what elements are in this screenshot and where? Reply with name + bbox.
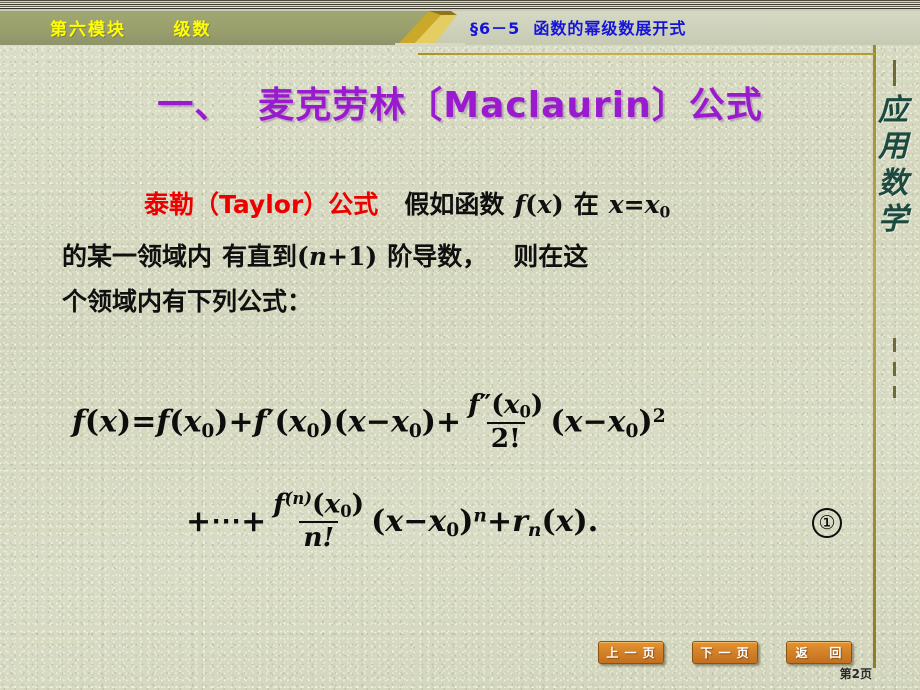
- page-title: 一、 麦克劳林〔Maclaurin〕公式: [0, 76, 920, 128]
- calligraphy-char-3: 数: [878, 168, 908, 200]
- f2-fraction: f(n)(x0)n!: [269, 490, 368, 552]
- body-text-block: 泰勒（Taylor）公式假如函数f(x)在x=x0 的某一领域内有直到(n+1)…: [62, 182, 862, 324]
- line2-math-plus: +: [327, 242, 348, 271]
- f2-frac-x0-sub: 0: [340, 502, 351, 521]
- f1-t2-fx0-sub: 0: [409, 421, 422, 442]
- f1-plus-1: +: [229, 405, 254, 440]
- f2-t-x: x: [385, 504, 403, 539]
- f1-frac-f: f: [468, 389, 479, 420]
- f1-t2-x0-sub: 0: [307, 421, 320, 442]
- f2-remainder-x: x: [556, 504, 574, 539]
- vertical-dash-bottom: [893, 338, 896, 398]
- f2-period: .: [588, 504, 598, 539]
- f2-frac-order: (n): [285, 489, 312, 508]
- prev-page-button[interactable]: 上 一 页: [598, 641, 664, 664]
- navigation-bar: 上 一 页 下 一 页 返 回: [598, 641, 852, 664]
- equation-number: ①: [812, 508, 842, 538]
- f1-plus-2: +: [436, 405, 461, 440]
- f2-plus-after: +: [241, 504, 266, 539]
- f2-ellipsis: ⋯: [211, 504, 241, 539]
- f1-t3-power: 2: [653, 406, 666, 427]
- f1-frac-primes: ″: [479, 389, 491, 420]
- slide-canvas: 第六模块 级数 §6－5 函数的幂级数展开式 应 用 数 学 一、 麦克劳林〔M…: [0, 0, 920, 690]
- line1-math-x2: x: [609, 190, 624, 219]
- f2-frac-f: f: [273, 489, 284, 520]
- header-gold-rule: [418, 53, 875, 55]
- line2-math-n: n: [309, 242, 327, 271]
- return-button[interactable]: 返 回: [786, 641, 852, 664]
- line1-text-a: 假如函数: [404, 190, 504, 219]
- line2-text-b: 有直到: [222, 242, 297, 271]
- section-title: §6－5 函数的幂级数展开式: [470, 15, 686, 39]
- f2-plus-r: +: [487, 504, 512, 539]
- f2-t-x0-sub: 0: [446, 520, 459, 541]
- f1-t2-fx: x: [348, 405, 366, 440]
- page-indicator: 第2页: [840, 665, 872, 682]
- f2-frac-x0: x: [325, 489, 341, 520]
- line2-text-c: 阶导数，: [387, 242, 487, 271]
- f1-lhs-f: f: [72, 405, 85, 440]
- header-section-band: §6－5 函数的幂级数展开式: [430, 9, 920, 45]
- f1-lhs-x: x: [99, 405, 117, 440]
- f2-t-x0: x: [428, 504, 446, 539]
- line1-math-x0-sub: 0: [659, 202, 670, 221]
- line2-text-d: 则在这: [513, 242, 588, 271]
- line1-math-f: f: [514, 190, 525, 219]
- line1-paren-close: ): [552, 190, 564, 219]
- f1-frac-x0: x: [504, 389, 520, 420]
- paragraph-line-3: 个领域内有下列公式：: [62, 279, 862, 324]
- f1-t3-x0: x: [608, 405, 626, 440]
- taylor-formula-heading: 泰勒（Taylor）公式: [144, 190, 378, 219]
- taylor-formula-line-2: +⋯+f(n)(x0)n!(x−x0)n+rn(x).: [186, 492, 598, 554]
- paragraph-line-2: 的某一领域内有直到(n+1)阶导数，则在这: [62, 234, 862, 279]
- next-page-button[interactable]: 下 一 页: [692, 641, 758, 664]
- f1-t2-minus: −: [366, 405, 391, 440]
- header-module-band: 第六模块 级数: [0, 9, 430, 45]
- f2-t-minus: −: [403, 504, 428, 539]
- paragraph-line-1: 泰勒（Taylor）公式假如函数f(x)在x=x0: [144, 182, 862, 234]
- f1-t2-fx0: x: [391, 405, 409, 440]
- top-stripe-decoration: [0, 0, 920, 11]
- line1-text-b: 在: [574, 190, 599, 219]
- line2-math-one: 1: [348, 242, 365, 271]
- line1-paren-open: (: [525, 190, 537, 219]
- line1-math-eq: =: [624, 190, 645, 219]
- line2-text-a: 的某一领域内: [62, 242, 212, 271]
- slide-header: 第六模块 级数 §6－5 函数的幂级数展开式: [0, 9, 920, 45]
- f1-frac-numerator: f″(x0): [464, 391, 547, 422]
- line1-math-x: x: [537, 190, 552, 219]
- line2-paren-close: ): [365, 242, 377, 271]
- f1-t3-minus: −: [583, 405, 608, 440]
- taylor-formula-line-1: f(x)=f(x0)+f′(x0)(x−x0)+f″(x0)2!(x−x0)2: [72, 393, 666, 454]
- f1-t1-x0-sub: 0: [201, 421, 214, 442]
- f1-t1-x0: x: [183, 405, 201, 440]
- f2-frac-numerator: f(n)(x0): [269, 490, 368, 521]
- f2-t-power: n: [473, 505, 487, 526]
- f2-remainder-r: r: [512, 504, 528, 539]
- f2-frac-denominator: n!: [299, 521, 338, 552]
- line1-math-x0: x: [645, 190, 660, 219]
- f1-t2-x0: x: [289, 405, 307, 440]
- equation-number-tag: ①: [812, 508, 842, 538]
- f1-frac-x0-sub: 0: [520, 403, 531, 422]
- f1-fraction: f″(x0)2!: [464, 391, 547, 452]
- line3-text-a: 个领域内有下列公式：: [62, 287, 312, 316]
- f2-remainder-sub: n: [528, 520, 542, 541]
- f2-lead-plus: +: [186, 504, 211, 539]
- f1-t3-x: x: [565, 405, 583, 440]
- line2-paren-open: (: [297, 242, 309, 271]
- f1-t2-f: f: [254, 405, 267, 440]
- calligraphy-char-4: 学: [878, 204, 908, 236]
- module-label: 第六模块 级数: [50, 15, 212, 40]
- f1-t3-x0-sub: 0: [626, 421, 639, 442]
- calligraphy-char-2: 用: [878, 131, 908, 163]
- f1-t1-f: f: [156, 405, 169, 440]
- f1-equals: =: [131, 405, 156, 440]
- f1-frac-denominator: 2!: [487, 422, 525, 453]
